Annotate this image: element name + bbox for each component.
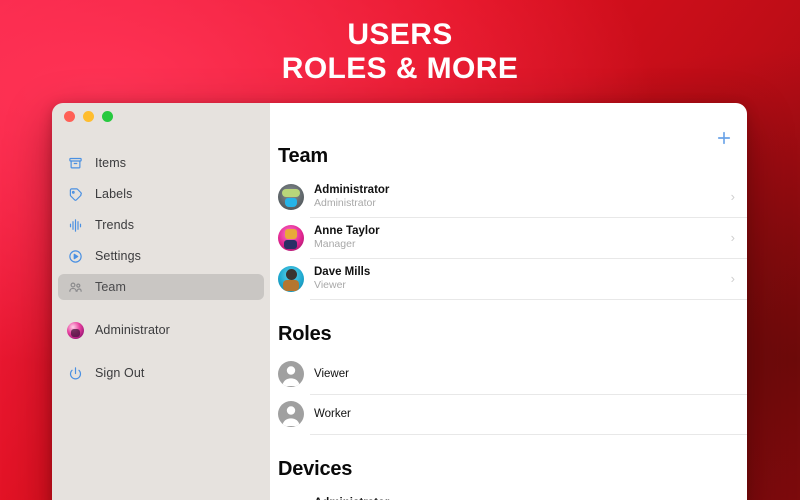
sidebar-item-label: Settings — [95, 249, 141, 263]
sidebar-nav: Items Labels — [52, 150, 270, 386]
sidebar-divider-gap — [58, 305, 264, 317]
list-item[interactable]: Viewer — [270, 354, 747, 394]
headline-line-1: USERS — [0, 18, 800, 52]
row-title: Administrator — [314, 183, 725, 197]
avatar — [67, 322, 84, 339]
zoom-button[interactable] — [102, 111, 113, 122]
content-pane: Team Administrator Administrator › Anne … — [270, 103, 747, 500]
section-title: Roles — [270, 323, 747, 354]
sidebar-divider-gap-2 — [58, 348, 264, 360]
promo-headline: USERS ROLES & MORE — [0, 18, 800, 86]
people-icon — [67, 279, 84, 296]
sidebar-item-labels[interactable]: Labels — [58, 181, 264, 207]
row-subtitle: Viewer — [314, 279, 725, 292]
sidebar-account-label: Administrator — [95, 323, 170, 337]
headline-line-2: ROLES & MORE — [0, 52, 800, 86]
table-row[interactable]: Administrator Mac mini (M2, 2023) Cupert… — [270, 489, 747, 500]
sidebar-item-account[interactable]: Administrator — [58, 317, 264, 343]
row-title: Viewer — [314, 367, 735, 381]
table-row[interactable]: Anne Taylor Manager › — [270, 217, 747, 258]
row-text: Dave Mills Viewer — [314, 265, 725, 292]
table-row[interactable]: Dave Mills Viewer › — [270, 258, 747, 299]
sidebar-item-label: Labels — [95, 187, 132, 201]
section-team: Team Administrator Administrator › Anne … — [270, 145, 747, 299]
list-item[interactable]: Worker — [270, 394, 747, 434]
row-title: Worker — [314, 407, 735, 421]
row-text: Administrator Administrator — [314, 183, 725, 210]
row-subtitle: Manager — [314, 238, 725, 251]
sidebar-sign-out-label: Sign Out — [95, 366, 144, 380]
chevron-right-icon: › — [725, 231, 735, 244]
avatar — [278, 266, 304, 292]
section-title: Devices — [270, 458, 747, 489]
row-subtitle: Administrator — [314, 197, 725, 210]
section-devices: Devices Administrator Mac mini (M2, 2023… — [270, 458, 747, 500]
section-roles: Roles Viewer — [270, 323, 747, 434]
tag-icon — [67, 186, 84, 203]
section-title: Team — [270, 145, 747, 176]
sidebar-item-sign-out[interactable]: Sign Out — [58, 360, 264, 386]
person-placeholder-icon — [278, 401, 304, 427]
add-button[interactable] — [715, 129, 733, 147]
sidebar-item-label: Trends — [95, 218, 134, 232]
row-text: Administrator Mac mini (M2, 2023) Cupert… — [314, 496, 721, 500]
window-traffic-lights — [64, 111, 113, 122]
waveform-icon — [67, 217, 84, 234]
play-circle-icon — [67, 248, 84, 265]
chevron-right-icon: › — [725, 190, 735, 203]
sidebar: Items Labels — [52, 103, 270, 500]
row-title: Administrator — [314, 496, 721, 500]
row-title: Dave Mills — [314, 265, 725, 279]
avatar — [278, 184, 304, 210]
archivebox-icon — [67, 155, 84, 172]
screenshot-stage: USERS ROLES & MORE Items — [0, 0, 800, 500]
minimize-button[interactable] — [83, 111, 94, 122]
sidebar-item-team[interactable]: Team — [58, 274, 264, 300]
sidebar-item-label: Items — [95, 156, 126, 170]
power-icon — [67, 365, 84, 382]
row-text: Anne Taylor Manager — [314, 224, 725, 251]
sidebar-item-settings[interactable]: Settings — [58, 243, 264, 269]
row-text: Worker — [314, 407, 735, 421]
sidebar-item-label: Team — [95, 280, 126, 294]
chevron-right-icon: › — [725, 272, 735, 285]
sidebar-item-trends[interactable]: Trends — [58, 212, 264, 238]
row-text: Viewer — [314, 367, 735, 381]
row-title: Anne Taylor — [314, 224, 725, 238]
avatar — [278, 225, 304, 251]
table-row[interactable]: Administrator Administrator › — [270, 176, 747, 217]
person-placeholder-icon — [278, 361, 304, 387]
close-button[interactable] — [64, 111, 75, 122]
sidebar-item-items[interactable]: Items — [58, 150, 264, 176]
content-scroll-area[interactable]: Team Administrator Administrator › Anne … — [270, 103, 747, 500]
app-window: Items Labels — [52, 103, 747, 500]
